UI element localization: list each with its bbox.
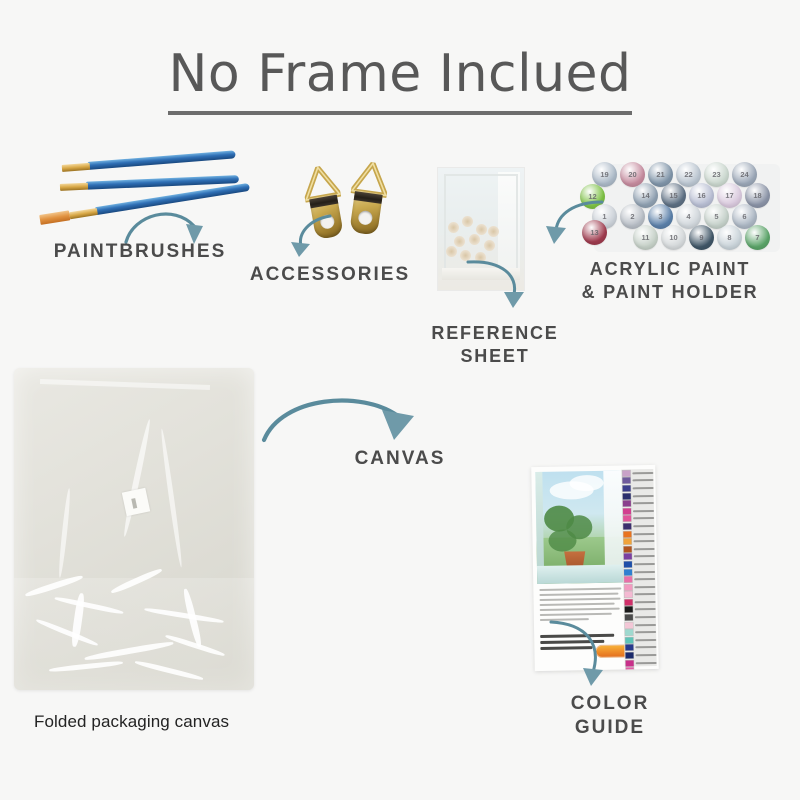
color-swatch-label bbox=[633, 487, 654, 489]
label-accessories: ACCESSORIES bbox=[240, 263, 420, 287]
color-swatch-label bbox=[635, 639, 656, 641]
paint-pot-number: 5 bbox=[714, 212, 718, 221]
arrow-to-reference-sheet bbox=[462, 254, 538, 320]
canvas-bag-bottom-fold bbox=[14, 578, 254, 690]
color-swatch-7 bbox=[623, 516, 631, 522]
paint-pot-number: 19 bbox=[600, 170, 608, 179]
paint-pot-number: 17 bbox=[725, 191, 733, 200]
label-reference-sheet: REFERENCE SHEET bbox=[405, 322, 585, 368]
color-swatch-label bbox=[633, 502, 654, 504]
infographic-canvas: No Frame Inclued bbox=[0, 0, 800, 800]
color-swatch-3 bbox=[623, 485, 631, 491]
color-swatch-label bbox=[635, 646, 656, 648]
color-swatch-12 bbox=[624, 554, 632, 560]
label-color-guide: COLOR GUIDE bbox=[520, 692, 700, 741]
page-title: No Frame Inclued bbox=[0, 46, 800, 115]
color-swatch-label bbox=[633, 510, 654, 512]
paint-pot-number: 24 bbox=[740, 170, 748, 179]
paint-pot-11: 11 bbox=[633, 225, 658, 250]
color-swatch-13 bbox=[624, 561, 632, 567]
color-guide-artwork bbox=[535, 470, 625, 584]
color-swatch-label bbox=[634, 540, 655, 542]
caption-folded-packaging-canvas: Folded packaging canvas bbox=[34, 712, 334, 732]
color-swatch-4 bbox=[623, 493, 631, 499]
color-swatch-label bbox=[635, 616, 656, 618]
color-swatch-21 bbox=[625, 622, 633, 628]
paint-pot-number: 21 bbox=[656, 170, 664, 179]
label-paintbrushes: PAINTBRUSHES bbox=[20, 240, 260, 264]
paint-pot-number: 18 bbox=[753, 191, 761, 200]
color-swatch-20 bbox=[625, 614, 633, 620]
color-swatch-label bbox=[635, 601, 656, 603]
paint-pot-number: 3 bbox=[658, 212, 662, 221]
color-swatch-label bbox=[635, 624, 656, 626]
label-canvas: CANVAS bbox=[300, 447, 500, 471]
color-swatch-label bbox=[632, 479, 653, 481]
paint-pot-number: 6 bbox=[742, 212, 746, 221]
color-swatch-11 bbox=[624, 546, 632, 552]
color-swatch-9 bbox=[623, 531, 631, 537]
canvas-bag-label bbox=[122, 488, 150, 516]
color-swatch-17 bbox=[624, 592, 632, 598]
paint-pot-8: 8 bbox=[717, 225, 742, 250]
paint-pot-number: 20 bbox=[628, 170, 636, 179]
color-swatch-19 bbox=[625, 607, 633, 613]
paint-pot-number: 9 bbox=[699, 233, 703, 242]
paint-pot-7: 7 bbox=[745, 225, 770, 250]
paint-pot-number: 2 bbox=[630, 212, 634, 221]
color-swatch-5 bbox=[623, 501, 631, 507]
color-swatch-label bbox=[634, 578, 655, 580]
color-swatch-26 bbox=[626, 660, 634, 666]
paint-pot-number: 8 bbox=[727, 233, 731, 242]
folded-canvas-icon bbox=[14, 368, 254, 690]
color-swatch-label bbox=[636, 669, 657, 671]
color-swatch-24 bbox=[625, 645, 633, 651]
color-swatch-label bbox=[636, 662, 657, 664]
color-swatch-label bbox=[635, 608, 656, 610]
paint-pot-number: 14 bbox=[641, 191, 649, 200]
color-swatch-8 bbox=[623, 523, 631, 529]
color-swatch-label bbox=[636, 654, 657, 656]
color-swatch-16 bbox=[624, 584, 632, 590]
color-swatch-22 bbox=[625, 630, 633, 636]
paint-pot-number: 11 bbox=[642, 233, 650, 242]
paint-pot-number: 16 bbox=[697, 191, 705, 200]
paint-pot-number: 15 bbox=[669, 191, 677, 200]
paint-pot-10: 10 bbox=[661, 225, 686, 250]
color-swatch-1 bbox=[622, 470, 630, 476]
color-guide-swatch-row bbox=[625, 666, 657, 671]
color-swatch-label bbox=[633, 533, 654, 535]
color-swatch-label bbox=[632, 472, 653, 474]
color-swatch-label bbox=[634, 593, 655, 595]
color-swatch-15 bbox=[624, 576, 632, 582]
paint-pot-tray-icon: 192021222324121415161718123456131110987 bbox=[586, 158, 786, 258]
arrow-to-accessories bbox=[282, 212, 352, 264]
arrow-to-acrylic-paint bbox=[540, 196, 612, 258]
color-swatch-23 bbox=[625, 637, 633, 643]
paintbrush-thin-1 bbox=[36, 150, 236, 174]
color-swatch-6 bbox=[623, 508, 631, 514]
color-swatch-label bbox=[633, 517, 654, 519]
color-swatch-10 bbox=[623, 538, 631, 544]
paint-pot-19: 19 bbox=[592, 162, 617, 187]
page-title-text: No Frame Inclued bbox=[168, 46, 631, 115]
paint-pot-9: 9 bbox=[689, 225, 714, 250]
paint-pot-number: 10 bbox=[669, 233, 677, 242]
color-swatch-label bbox=[633, 495, 654, 497]
paint-pot-number: 4 bbox=[686, 212, 690, 221]
color-swatch-label bbox=[634, 563, 655, 565]
color-swatch-27 bbox=[626, 668, 634, 671]
color-swatch-18 bbox=[625, 599, 633, 605]
paint-pot-number: 23 bbox=[712, 170, 720, 179]
paint-pot-number: 7 bbox=[755, 233, 759, 242]
color-swatch-25 bbox=[625, 652, 633, 658]
color-swatch-label bbox=[634, 555, 655, 557]
arrow-to-color-guide bbox=[545, 612, 625, 694]
color-swatch-label bbox=[635, 631, 656, 633]
label-acrylic-paint: ACRYLIC PAINT & PAINT HOLDER bbox=[545, 258, 795, 304]
color-swatch-label bbox=[634, 586, 655, 588]
color-swatch-label bbox=[633, 525, 654, 527]
arrow-to-canvas bbox=[258, 388, 428, 450]
color-swatch-label bbox=[634, 548, 655, 550]
color-guide-swatch-column bbox=[621, 469, 656, 667]
color-swatch-14 bbox=[624, 569, 632, 575]
color-swatch-label bbox=[634, 570, 655, 572]
color-swatch-2 bbox=[622, 478, 630, 484]
paint-pot-number: 22 bbox=[684, 170, 692, 179]
